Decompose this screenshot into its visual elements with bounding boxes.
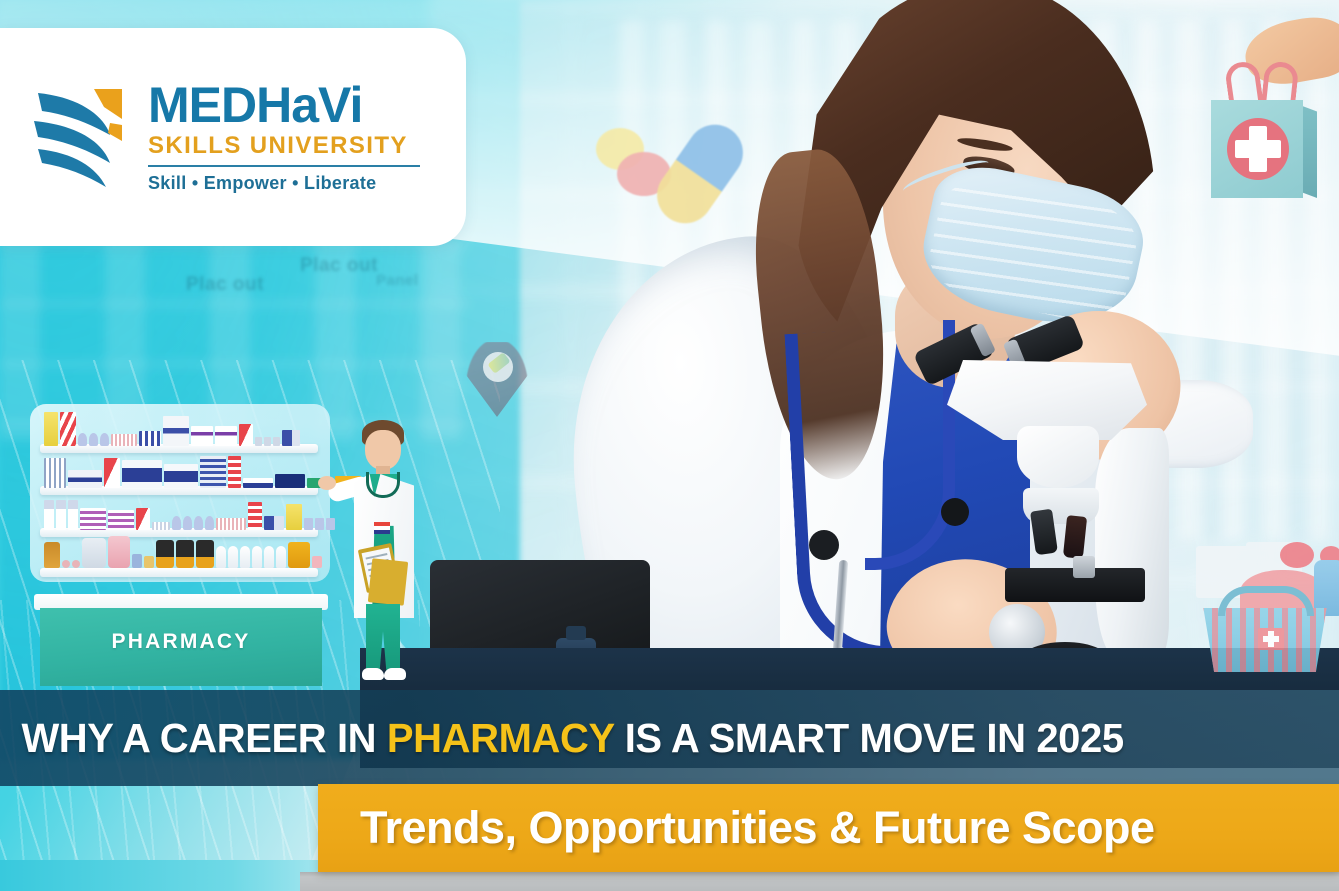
headline-bar: WHY A CAREER IN PHARMACY IS A SMART MOVE… — [0, 690, 1339, 786]
bottom-left-cyan-wedge — [0, 860, 330, 891]
character-shoe-right — [384, 668, 406, 680]
pharmacy-counter-sign: PHARMACY — [34, 630, 328, 654]
logo-divider — [148, 165, 420, 167]
character-shoe-left — [362, 668, 384, 680]
pharmacy-shelf-goods-1 — [44, 410, 300, 446]
background-label-plac-out-1: Plac out — [186, 274, 264, 296]
basket-handle — [1218, 586, 1314, 616]
page-subtitle: Trends, Opportunities & Future Scope — [318, 802, 1155, 854]
pharmacist-character-illustration — [340, 418, 426, 690]
microscope-stage-clip — [1073, 556, 1095, 578]
medical-shopping-bag-icon — [1201, 52, 1325, 202]
logo-name-primary: MEDHaVi — [148, 80, 422, 130]
page-title: WHY A CAREER IN PHARMACY IS A SMART MOVE… — [0, 715, 1124, 762]
headline-highlight: PHARMACY — [387, 715, 614, 761]
character-face — [365, 430, 401, 470]
medhavi-flame-logo-icon — [18, 81, 136, 193]
logo-name-secondary: SKILLS UNIVERSITY — [148, 134, 422, 158]
basket-medical-cross-icon — [1258, 628, 1284, 650]
medical-cross-icon — [1249, 126, 1267, 172]
blue-medicine-bottle — [1314, 560, 1339, 616]
pharmacy-shop-illustration: PHARMACY — [34, 408, 334, 686]
headline-prefix: WHY A CAREER IN — [21, 715, 386, 761]
subheadline-bar: Trends, Opportunities & Future Scope — [318, 784, 1339, 872]
pharmacy-shelf-goods-4 — [44, 532, 322, 568]
microscope-objective-lens-2 — [1063, 515, 1087, 559]
university-logo-card[interactable]: MEDHaVi SKILLS UNIVERSITY Skill • Empowe… — [0, 28, 466, 246]
character-id-badge — [374, 522, 390, 534]
pharmacy-shelf-row-4 — [40, 568, 318, 577]
logo-wordmark: MEDHaVi SKILLS UNIVERSITY Skill • Empowe… — [148, 80, 422, 194]
pharmacy-shelf-goods-3 — [44, 494, 335, 530]
microscope-arm — [1095, 428, 1169, 658]
background-label-panel: Panel — [376, 272, 419, 289]
headline-suffix: IS A SMART MOVE IN 2025 — [614, 715, 1124, 761]
medicine-shopping-basket-icon — [1196, 542, 1339, 680]
character-hand — [318, 476, 336, 490]
bottom-strip-shadow — [300, 872, 1339, 877]
microscope-nosepiece — [1017, 426, 1099, 488]
character-clipboard-2 — [368, 558, 408, 606]
background-label-plac-out-2: Plac out — [300, 255, 378, 277]
character-scrubs-pants — [366, 604, 400, 672]
stethoscope-bell-left — [809, 530, 839, 560]
hero-banner: Plac out Plac out Panel — [0, 0, 1339, 891]
bottle-lid-1 — [1280, 542, 1314, 568]
logo-tagline: Skill • Empower • Liberate — [148, 173, 422, 194]
